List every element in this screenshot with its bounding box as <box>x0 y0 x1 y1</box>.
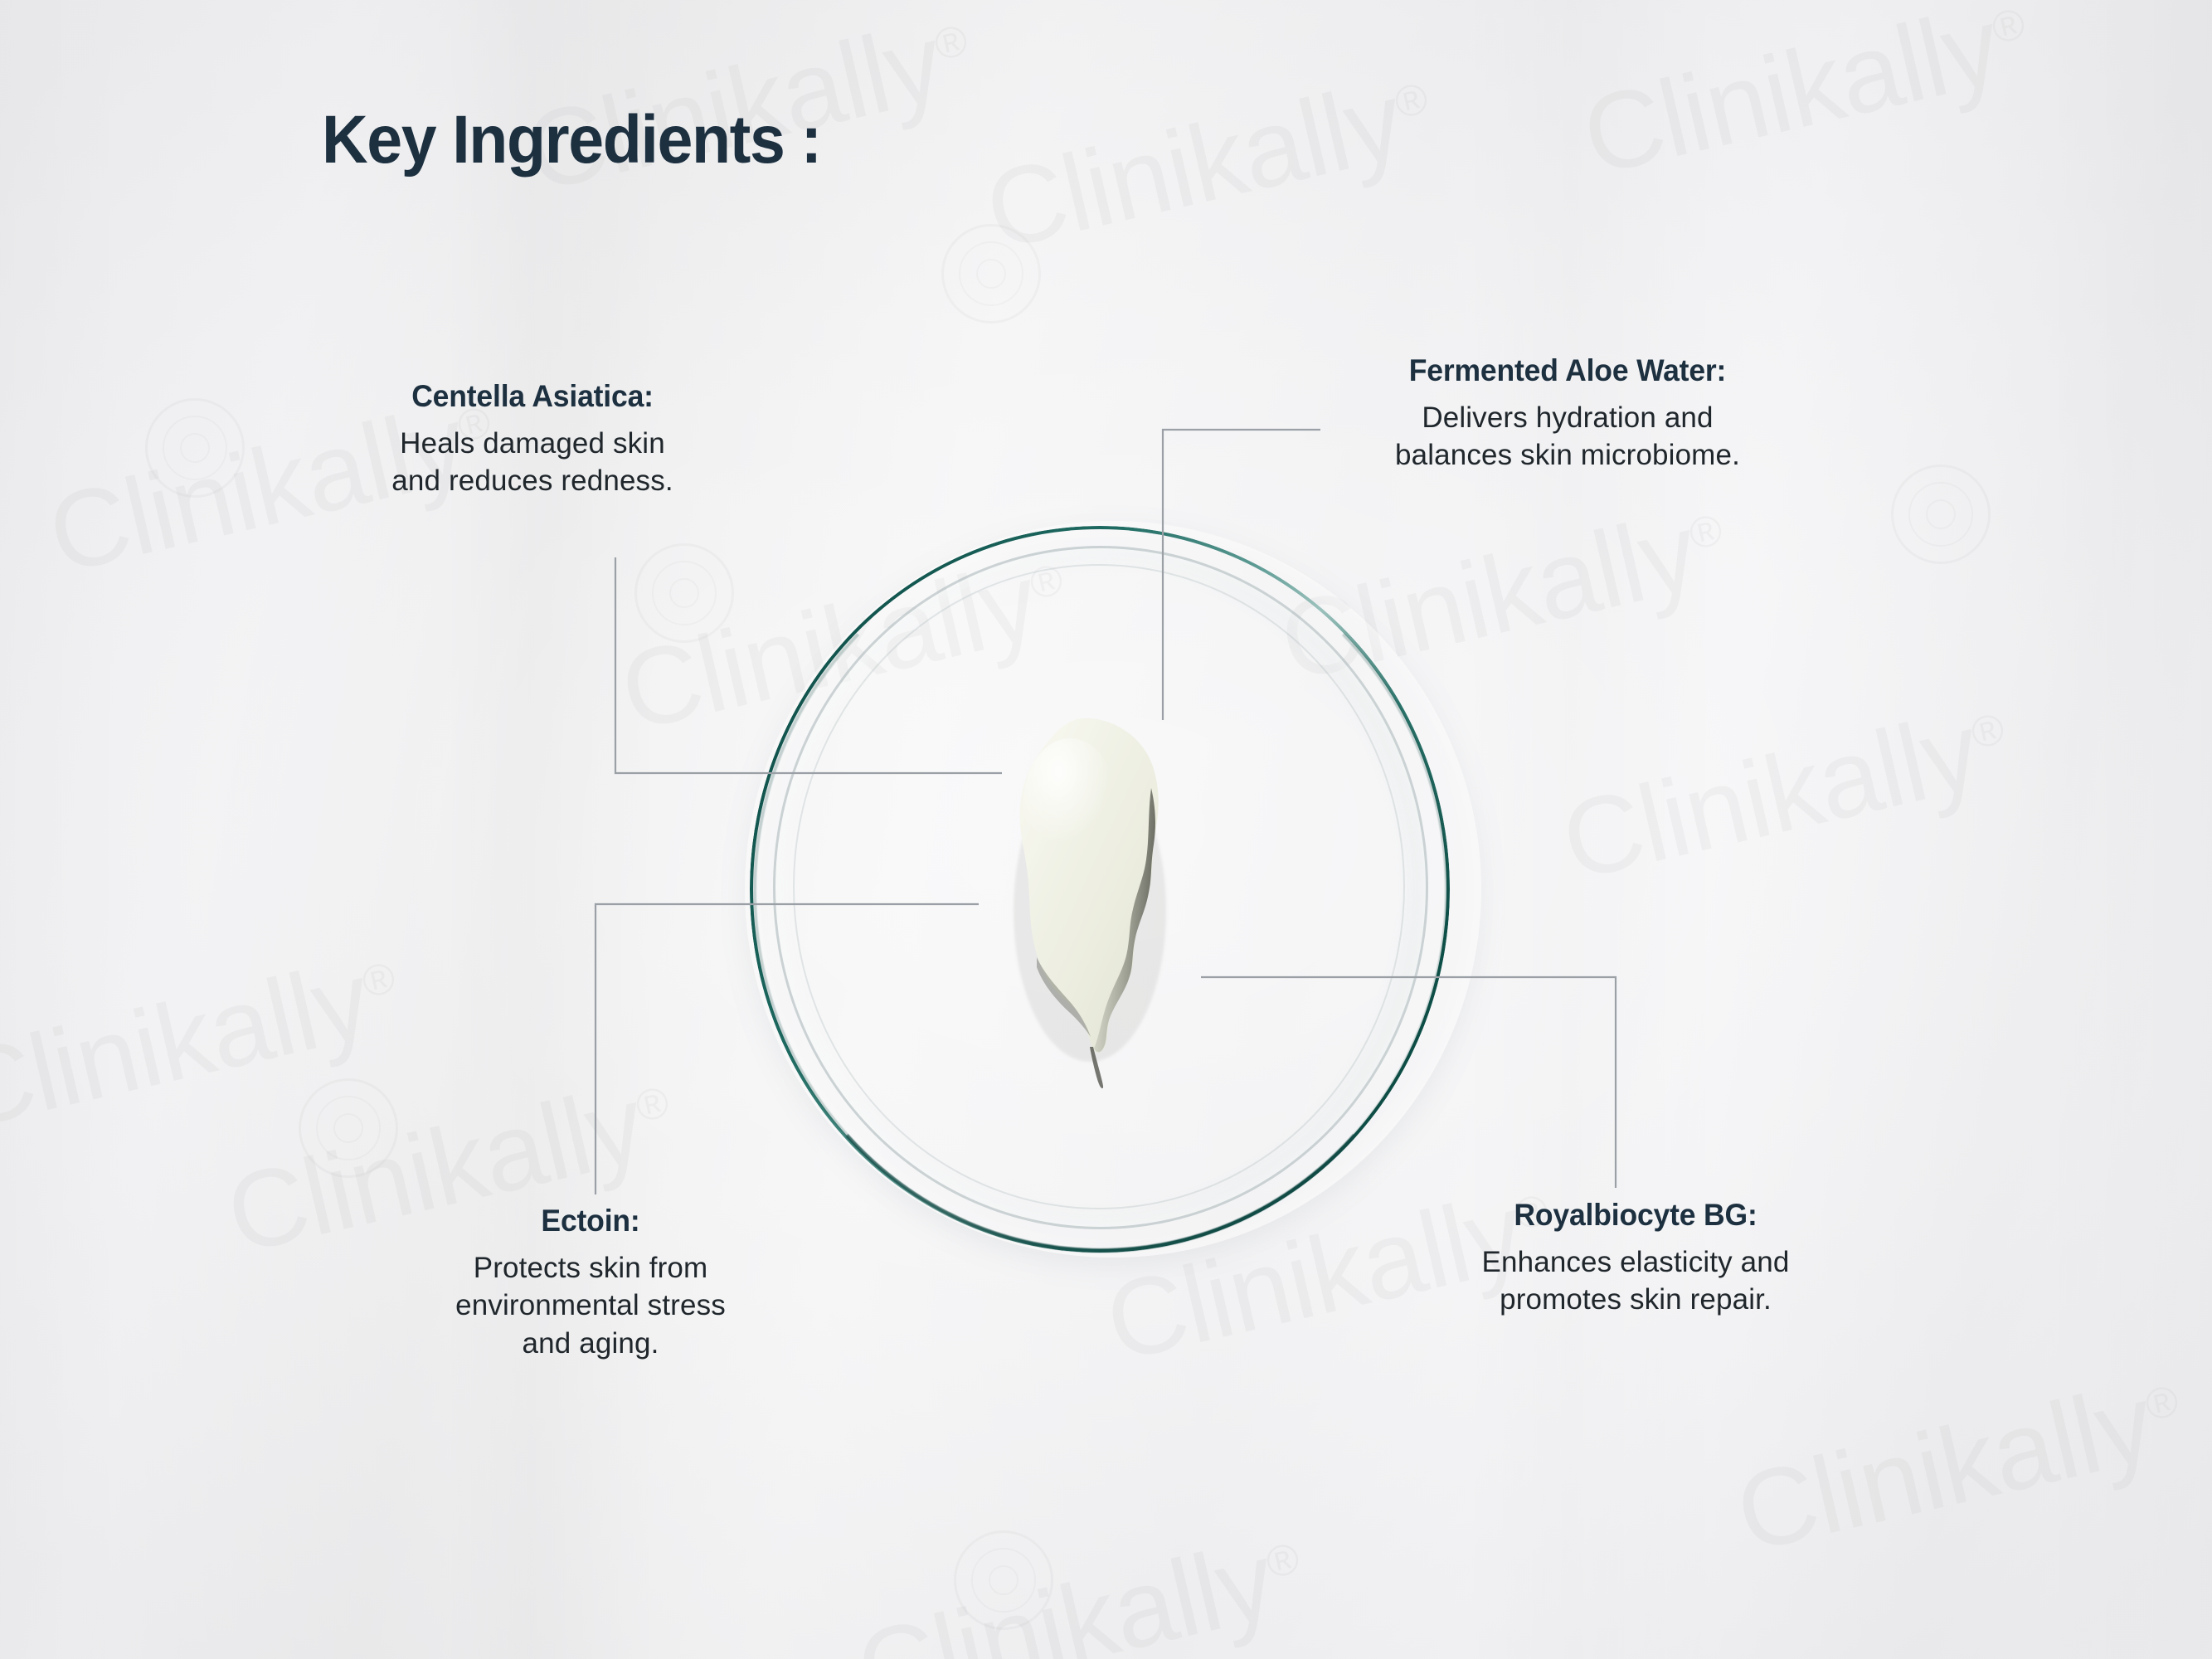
description-line: promotes skin repair. <box>1378 1281 1893 1319</box>
page-title: Key Ingredients : <box>322 101 821 179</box>
ingredient-label-fermented-aloe-water: Fermented Aloe Water: Delivers hydration… <box>1310 353 1825 474</box>
watermark-sunburst-icon <box>954 1530 1053 1630</box>
watermark-sunburst-icon <box>941 224 1041 324</box>
watermark-clinikally: Clinikally® <box>1572 0 2040 199</box>
ingredient-label-royalbiocyte-bg: Royalbiocyte BG: Enhances elasticity and… <box>1378 1197 1893 1319</box>
watermark-sunburst-icon <box>634 543 734 643</box>
watermark-clinikally: Clinikally® <box>846 1511 1315 1659</box>
ingredient-description-royalbiocyte-bg: Enhances elasticity and promotes skin re… <box>1378 1243 1893 1319</box>
watermark-clinikally: Clinikally® <box>1551 681 2020 905</box>
description-line: Heals damaged skin <box>317 425 748 463</box>
ingredient-name-ectoin: Ectoin: <box>383 1203 797 1239</box>
ingredient-description-centella-asiatica: Heals damaged skin and reduces redness. <box>317 425 748 500</box>
watermark-clinikally: Clinikally® <box>975 51 1443 275</box>
cream-swatch <box>989 712 1188 1093</box>
watermark-clinikally: Clinikally® <box>1725 1353 2194 1577</box>
ingredient-name-fermented-aloe-water: Fermented Aloe Water: <box>1320 353 1814 389</box>
description-line: balances skin microbiome. <box>1310 436 1825 474</box>
swatch-highlight <box>1023 738 1116 868</box>
ingredient-name-centella-asiatica: Centella Asiatica: <box>325 378 739 415</box>
description-line: Delivers hydration and <box>1310 399 1825 437</box>
infographic-canvas: Clinikally® Clinikally® Clinikally® Clin… <box>0 0 2212 1659</box>
description-line: Enhances elasticity and <box>1378 1243 1893 1282</box>
description-line: and aging. <box>375 1325 806 1363</box>
watermark-clinikally: Clinikally® <box>0 930 411 1154</box>
watermark-sunburst-icon <box>145 398 245 498</box>
ingredient-label-ectoin: Ectoin: Protects skin from environmental… <box>375 1203 806 1362</box>
description-line: Protects skin from <box>375 1249 806 1287</box>
ingredient-description-fermented-aloe-water: Delivers hydration and balances skin mic… <box>1310 399 1825 474</box>
description-line: environmental stress <box>375 1287 806 1325</box>
watermark-sunburst-icon <box>1891 465 1991 564</box>
ingredient-name-royalbiocyte-bg: Royalbiocyte BG: <box>1388 1197 1882 1233</box>
ingredient-label-centella-asiatica: Centella Asiatica: Heals damaged skin an… <box>317 378 748 500</box>
watermark-sunburst-icon <box>299 1078 398 1178</box>
ingredient-description-ectoin: Protects skin from environmental stress … <box>375 1249 806 1363</box>
description-line: and reduces redness. <box>317 462 748 500</box>
